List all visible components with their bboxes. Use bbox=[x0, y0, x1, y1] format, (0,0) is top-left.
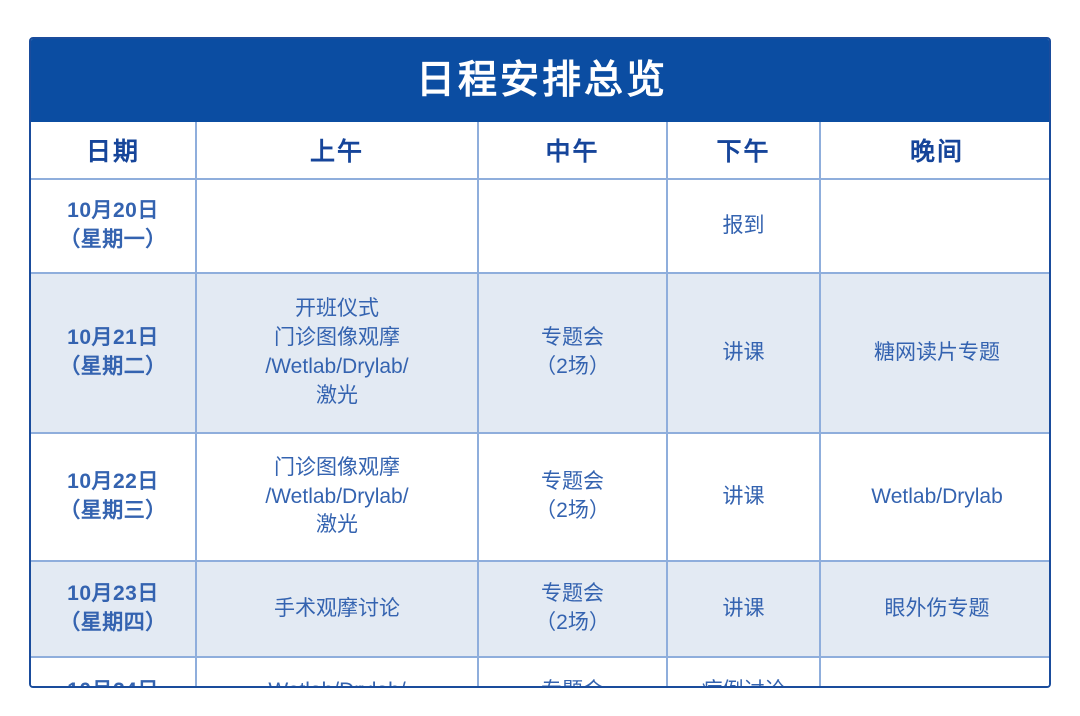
row-evening-cell: 眼外伤专题 bbox=[820, 561, 1051, 657]
row-afternoon-cell: 讲课 bbox=[667, 273, 820, 433]
date-line-weekday: （星期一） bbox=[35, 226, 191, 255]
row-date-cell: 10月24日 （星期五） bbox=[31, 657, 196, 688]
session-label: 专题会 bbox=[483, 468, 662, 497]
date-line-primary: 10月22日 bbox=[35, 468, 191, 497]
date-line-primary: 10月23日 bbox=[35, 580, 191, 609]
row-afternoon-cell: 讲课 bbox=[667, 433, 820, 561]
session-label: 门诊图像观摩 bbox=[201, 324, 473, 353]
row-afternoon-cell: 报到 bbox=[667, 179, 820, 273]
title-banner-cell: 日程安排总览 bbox=[31, 39, 1051, 122]
table-row: 10月21日 （星期二） 开班仪式 门诊图像观摩 /Wetlab/Drylab/… bbox=[31, 273, 1051, 433]
date-line-weekday: （星期四） bbox=[35, 609, 191, 638]
date-line-weekday: （星期二） bbox=[35, 353, 191, 382]
table-row: 10月23日 （星期四） 手术观摩讨论 专题会 （2场） 讲课 眼外伤专题 bbox=[31, 561, 1051, 657]
row-evening-cell: Wetlab/Drylab bbox=[820, 433, 1051, 561]
row-morning-cell bbox=[196, 179, 478, 273]
row-evening-cell: 糖网读片专题 bbox=[820, 273, 1051, 433]
session-label: 眼外伤专题 bbox=[825, 595, 1049, 624]
session-label: Wetlab/Drylab/ bbox=[201, 677, 473, 688]
session-label: 病例讨论 bbox=[672, 677, 815, 688]
session-label: 激光 bbox=[201, 511, 473, 540]
session-label: 专题会 bbox=[483, 580, 662, 609]
column-header-date: 日期 bbox=[31, 122, 196, 179]
table-row: 10月22日 （星期三） 门诊图像观摩 /Wetlab/Drylab/ 激光 专… bbox=[31, 433, 1051, 561]
date-line-primary: 10月20日 bbox=[35, 197, 191, 226]
session-label: 讲课 bbox=[672, 339, 815, 368]
row-date-cell: 10月23日 （星期四） bbox=[31, 561, 196, 657]
row-evening-cell bbox=[820, 179, 1051, 273]
session-count: （2场） bbox=[483, 497, 662, 526]
session-label: 激光 bbox=[201, 382, 473, 411]
session-label: 专题会 bbox=[483, 324, 662, 353]
row-noon-cell bbox=[478, 179, 667, 273]
page-title: 日程安排总览 bbox=[416, 59, 668, 102]
session-label: 门诊图像观摩 bbox=[201, 454, 473, 483]
row-afternoon-cell: 病例讨论 结业仪式 bbox=[667, 657, 820, 688]
table-row: 10月24日 （星期五） Wetlab/Drylab/ 激光 专题会 （2场） … bbox=[31, 657, 1051, 688]
row-date-cell: 10月22日 （星期三） bbox=[31, 433, 196, 561]
column-header-morning: 上午 bbox=[196, 122, 478, 179]
column-header-noon: 中午 bbox=[478, 122, 667, 179]
row-morning-cell: 开班仪式 门诊图像观摩 /Wetlab/Drylab/ 激光 bbox=[196, 273, 478, 433]
row-noon-cell: 专题会 （2场） bbox=[478, 273, 667, 433]
schedule-table-container: 日程安排总览 日期 上午 中午 下午 晚间 10月20日 （星期一） 报到 bbox=[29, 37, 1051, 688]
session-label: 讲课 bbox=[672, 595, 815, 624]
date-line-primary: 10月24日 bbox=[35, 677, 191, 688]
session-label: /Wetlab/Drylab/ bbox=[201, 353, 473, 382]
row-morning-cell: 手术观摩讨论 bbox=[196, 561, 478, 657]
session-label: /Wetlab/Drylab/ bbox=[201, 483, 473, 512]
table-row: 10月20日 （星期一） 报到 bbox=[31, 179, 1051, 273]
column-header-afternoon: 下午 bbox=[667, 122, 820, 179]
session-label: Wetlab/Drylab bbox=[825, 483, 1049, 512]
column-header-row: 日期 上午 中午 下午 晚间 bbox=[31, 122, 1051, 179]
session-label: 专题会 bbox=[483, 677, 662, 688]
row-date-cell: 10月20日 （星期一） bbox=[31, 179, 196, 273]
title-banner-row: 日程安排总览 bbox=[31, 39, 1051, 122]
row-afternoon-cell: 讲课 bbox=[667, 561, 820, 657]
session-count: （2场） bbox=[483, 353, 662, 382]
date-line-weekday: （星期三） bbox=[35, 497, 191, 526]
session-label: 开班仪式 bbox=[201, 295, 473, 324]
session-count: （2场） bbox=[483, 609, 662, 638]
row-evening-cell bbox=[820, 657, 1051, 688]
column-header-evening: 晚间 bbox=[820, 122, 1051, 179]
row-noon-cell: 专题会 （2场） bbox=[478, 433, 667, 561]
session-label: 糖网读片专题 bbox=[825, 339, 1049, 368]
session-label: 报到 bbox=[672, 212, 815, 241]
session-label: 讲课 bbox=[672, 483, 815, 512]
schedule-table: 日程安排总览 日期 上午 中午 下午 晚间 10月20日 （星期一） 报到 bbox=[31, 39, 1051, 688]
row-morning-cell: 门诊图像观摩 /Wetlab/Drylab/ 激光 bbox=[196, 433, 478, 561]
date-line-primary: 10月21日 bbox=[35, 324, 191, 353]
row-noon-cell: 专题会 （2场） bbox=[478, 561, 667, 657]
row-date-cell: 10月21日 （星期二） bbox=[31, 273, 196, 433]
row-morning-cell: Wetlab/Drylab/ 激光 bbox=[196, 657, 478, 688]
row-noon-cell: 专题会 （2场） bbox=[478, 657, 667, 688]
session-label: 手术观摩讨论 bbox=[201, 595, 473, 624]
